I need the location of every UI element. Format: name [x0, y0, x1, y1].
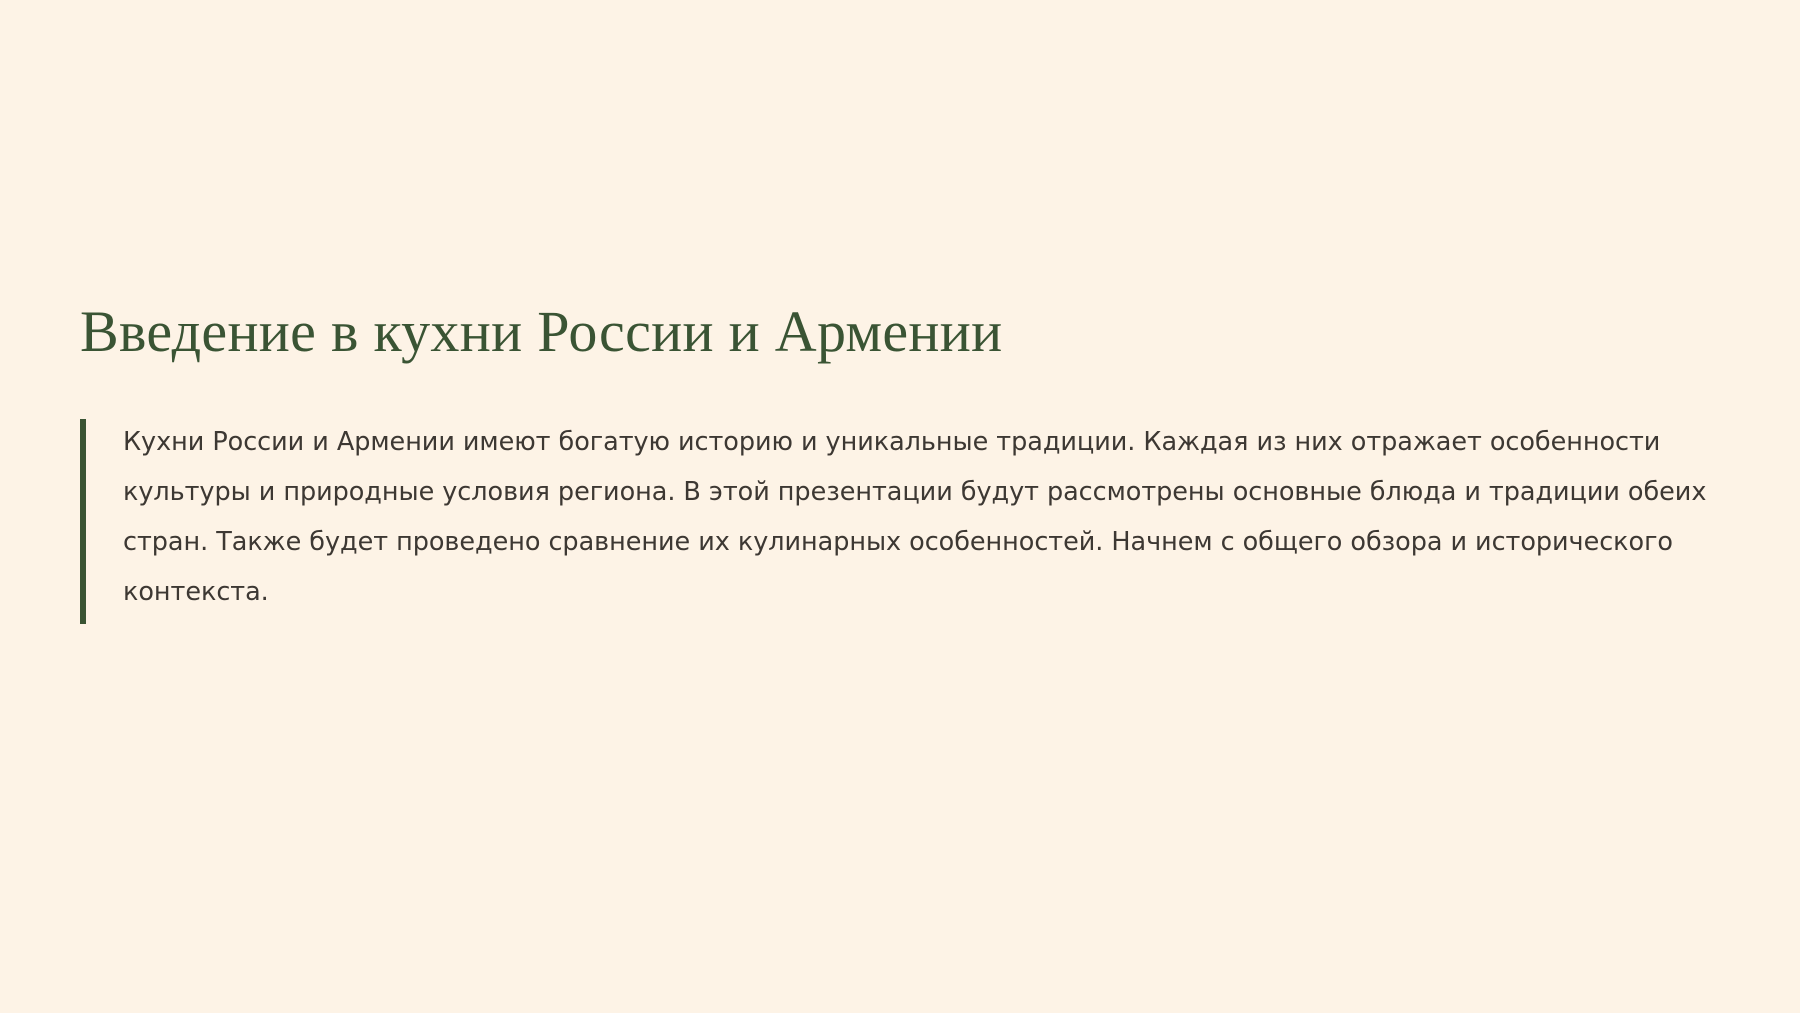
page-title: Введение в кухни России и Армении: [80, 300, 1740, 365]
body-paragraph: Кухни России и Армении имеют богатую ист…: [123, 417, 1740, 617]
accent-bar: [80, 419, 86, 624]
presentation-slide: Введение в кухни России и Армении Кухни …: [0, 0, 1800, 1013]
body-text-container: Кухни России и Армении имеют богатую ист…: [80, 417, 1740, 617]
slide-content-block: Введение в кухни России и Армении Кухни …: [80, 300, 1740, 617]
